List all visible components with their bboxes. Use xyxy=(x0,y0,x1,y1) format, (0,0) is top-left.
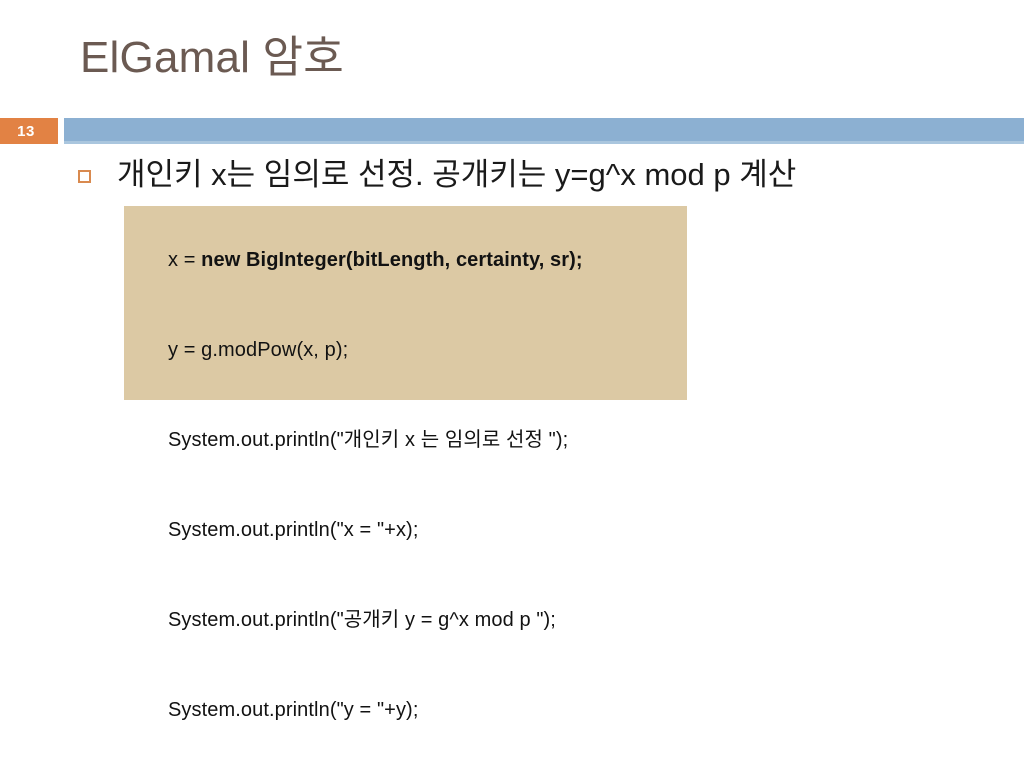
title-divider: 13 xyxy=(0,118,1024,144)
code-line-plain: System.out.println("y = "+y); xyxy=(168,699,419,721)
code-block: x = new BigInteger(bitLength, certainty,… xyxy=(124,206,687,400)
code-line: System.out.println("x = "+x); xyxy=(134,485,687,575)
code-line: System.out.println("개인키 x 는 임의로 선정 "); xyxy=(134,395,687,485)
slide-number: 13 xyxy=(0,118,58,144)
code-line-plain: y = g.modPow(x, p); xyxy=(168,339,348,361)
code-line-plain: System.out.println("개인키 x 는 임의로 선정 "); xyxy=(168,429,568,451)
divider-bar-shadow xyxy=(64,141,1024,144)
code-line: y = g.modPow(x, p); xyxy=(134,305,687,395)
code-line: System.out.println("y = "+y); xyxy=(134,665,687,755)
code-line: System.out.println("공개키 y = g^x mod p ")… xyxy=(134,575,687,665)
code-line-plain: System.out.println("공개키 y = g^x mod p ")… xyxy=(168,609,556,631)
hollow-square-bullet-icon xyxy=(78,170,91,183)
code-line-bold: new BigInteger(bitLength, certainty, sr)… xyxy=(201,249,583,271)
page-title: ElGamal 암호 xyxy=(80,33,344,82)
bullet-item: 개인키 x는 임의로 선정. 공개키는 y=g^x mod p 계산 xyxy=(78,156,796,195)
bullet-item-label: 개인키 x는 임의로 선정. 공개키는 y=g^x mod p 계산 xyxy=(117,156,796,195)
presentation-slide: ElGamal 암호 13 개인키 x는 임의로 선정. 공개키는 y=g^x … xyxy=(0,0,1024,768)
code-line-plain: x = xyxy=(168,249,201,271)
divider-bar xyxy=(64,118,1024,141)
code-line: x = new BigInteger(bitLength, certainty,… xyxy=(134,215,687,305)
code-line-plain: System.out.println("x = "+x); xyxy=(168,519,419,541)
